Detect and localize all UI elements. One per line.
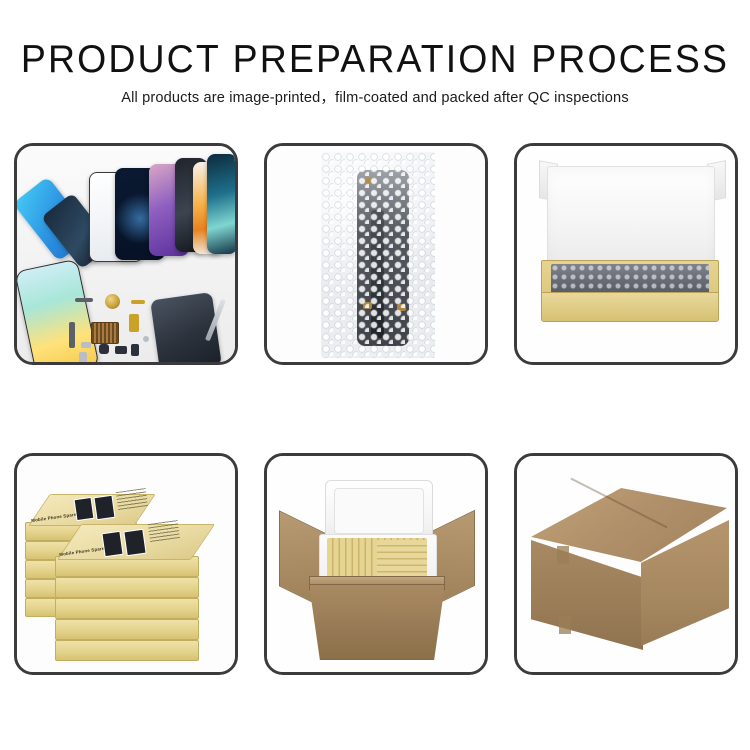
box-label-thumb-c (101, 531, 123, 557)
process-step-grid: I II (0, 0, 750, 750)
box-label-thumb-a (74, 497, 95, 521)
box-label-text-lines-left (116, 488, 148, 512)
step-panel-4: Mobile Phone Spare Parts Mobile Phone Sp… (14, 453, 238, 675)
stacked-box (55, 598, 199, 619)
photo-parts-layout (17, 146, 235, 362)
product-preparation-infographic: PRODUCT PREPARATION PROCESS All products… (0, 0, 750, 750)
bubble-wrapped-items (551, 264, 709, 294)
phone-teal (207, 154, 237, 254)
vibrator-module (115, 346, 127, 354)
photo-stacked-retail-boxes: Mobile Phone Spare Parts Mobile Phone Sp… (17, 456, 235, 672)
stacked-box (55, 577, 199, 598)
flex-cable-gold (129, 314, 139, 332)
step-panel-2: II (264, 143, 488, 365)
bubble-wrap-bag (321, 152, 435, 358)
box-label-thumb-d (123, 529, 146, 557)
logic-board-chip (91, 322, 119, 344)
camera-module (99, 344, 109, 354)
carton-body (309, 584, 445, 660)
step-panel-5: V (264, 453, 488, 675)
stacked-box (55, 619, 199, 640)
part-small-dark (131, 344, 139, 356)
box-front-panel (541, 292, 719, 322)
box-label-text-lines-right (148, 520, 180, 544)
stacked-box (55, 640, 199, 661)
photo-open-tray-box (517, 146, 735, 362)
box-white-lid (547, 166, 715, 270)
sim-tray (79, 352, 87, 364)
foam-lid-recess (334, 488, 424, 534)
bubble-texture (321, 152, 435, 358)
photo-bubble-wrapped-part (267, 146, 485, 362)
yellow-boxes-row-2 (377, 540, 427, 578)
part-strip-gold (131, 300, 145, 304)
speaker-module (105, 294, 120, 309)
box-label-thumb-b (93, 495, 115, 520)
photo-carton-with-foam-box (267, 456, 485, 672)
part-strip-1 (75, 298, 93, 302)
screw (143, 336, 149, 342)
step-panel-6: VI (514, 453, 738, 675)
carton-tape-lower (559, 616, 571, 634)
carton-tape-upper (557, 546, 569, 564)
part-strip-2 (69, 322, 75, 348)
step-panel-3: III (514, 143, 738, 365)
photo-sealed-carton (517, 456, 735, 672)
part-bracket (81, 342, 91, 348)
step-panel-1: I (14, 143, 238, 365)
